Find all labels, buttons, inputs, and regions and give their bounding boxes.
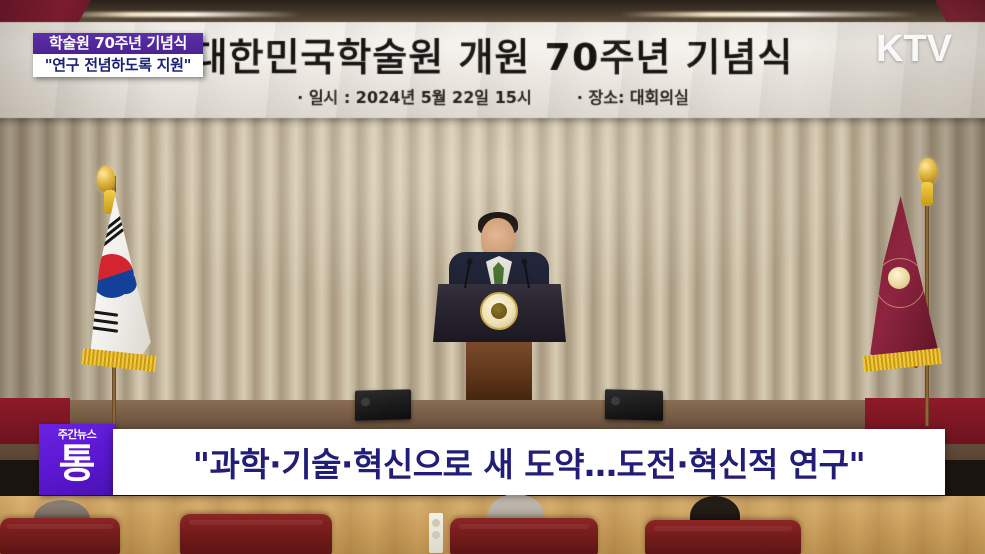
- flag-finial-right: [919, 158, 937, 184]
- trigram-bar: [92, 310, 118, 317]
- title-bug-line-1: 학술원 70주년 기념식: [33, 33, 203, 54]
- lower-third-headline: "과학·기술·혁신으로 새 도약…도전·혁신적 연구": [193, 438, 865, 486]
- national-emblem-icon: [480, 292, 518, 330]
- ceiling-light: [620, 12, 920, 17]
- headline-title-bug: 학술원 70주년 기념식 "연구 전념하도록 지원": [33, 33, 203, 77]
- trigram-bar: [92, 318, 118, 325]
- audience-chair: [450, 518, 598, 554]
- stage-monitor-speaker-right: [605, 389, 663, 421]
- program-badge: 주간뉴스 통: [39, 424, 115, 495]
- flagpole-right: [925, 168, 929, 426]
- audience-chair: [0, 518, 120, 554]
- program-badge-title: 통: [59, 439, 96, 489]
- channel-logo-ktv: KTV: [876, 28, 952, 71]
- wall-outlet: [429, 513, 443, 553]
- lower-third-banner: "과학·기술·혁신으로 새 도약…도전·혁신적 연구": [113, 429, 945, 495]
- ceiling-light: [60, 12, 300, 17]
- event-banner-place: · 장소: 대회의실: [577, 88, 689, 107]
- audience-chair: [645, 520, 801, 554]
- broadcast-video-frame: 대한민국학술원 개원 70주년 기념식 · 일시 : 2024년 5월 22일 …: [0, 0, 985, 554]
- flag-tassel-right: [921, 182, 933, 206]
- podium-base: [466, 342, 532, 400]
- title-bug-line-2: "연구 전념하도록 지원": [33, 54, 203, 77]
- event-banner-subline: · 일시 : 2024년 5월 22일 15시 · 장소: 대회의실: [0, 84, 985, 108]
- stage-monitor-speaker-left: [355, 389, 411, 420]
- event-banner-date: · 일시 : 2024년 5월 22일 15시: [297, 88, 532, 107]
- trigram-bar: [92, 326, 118, 333]
- flag-finial-left: [97, 166, 115, 192]
- audience-chair: [180, 514, 332, 554]
